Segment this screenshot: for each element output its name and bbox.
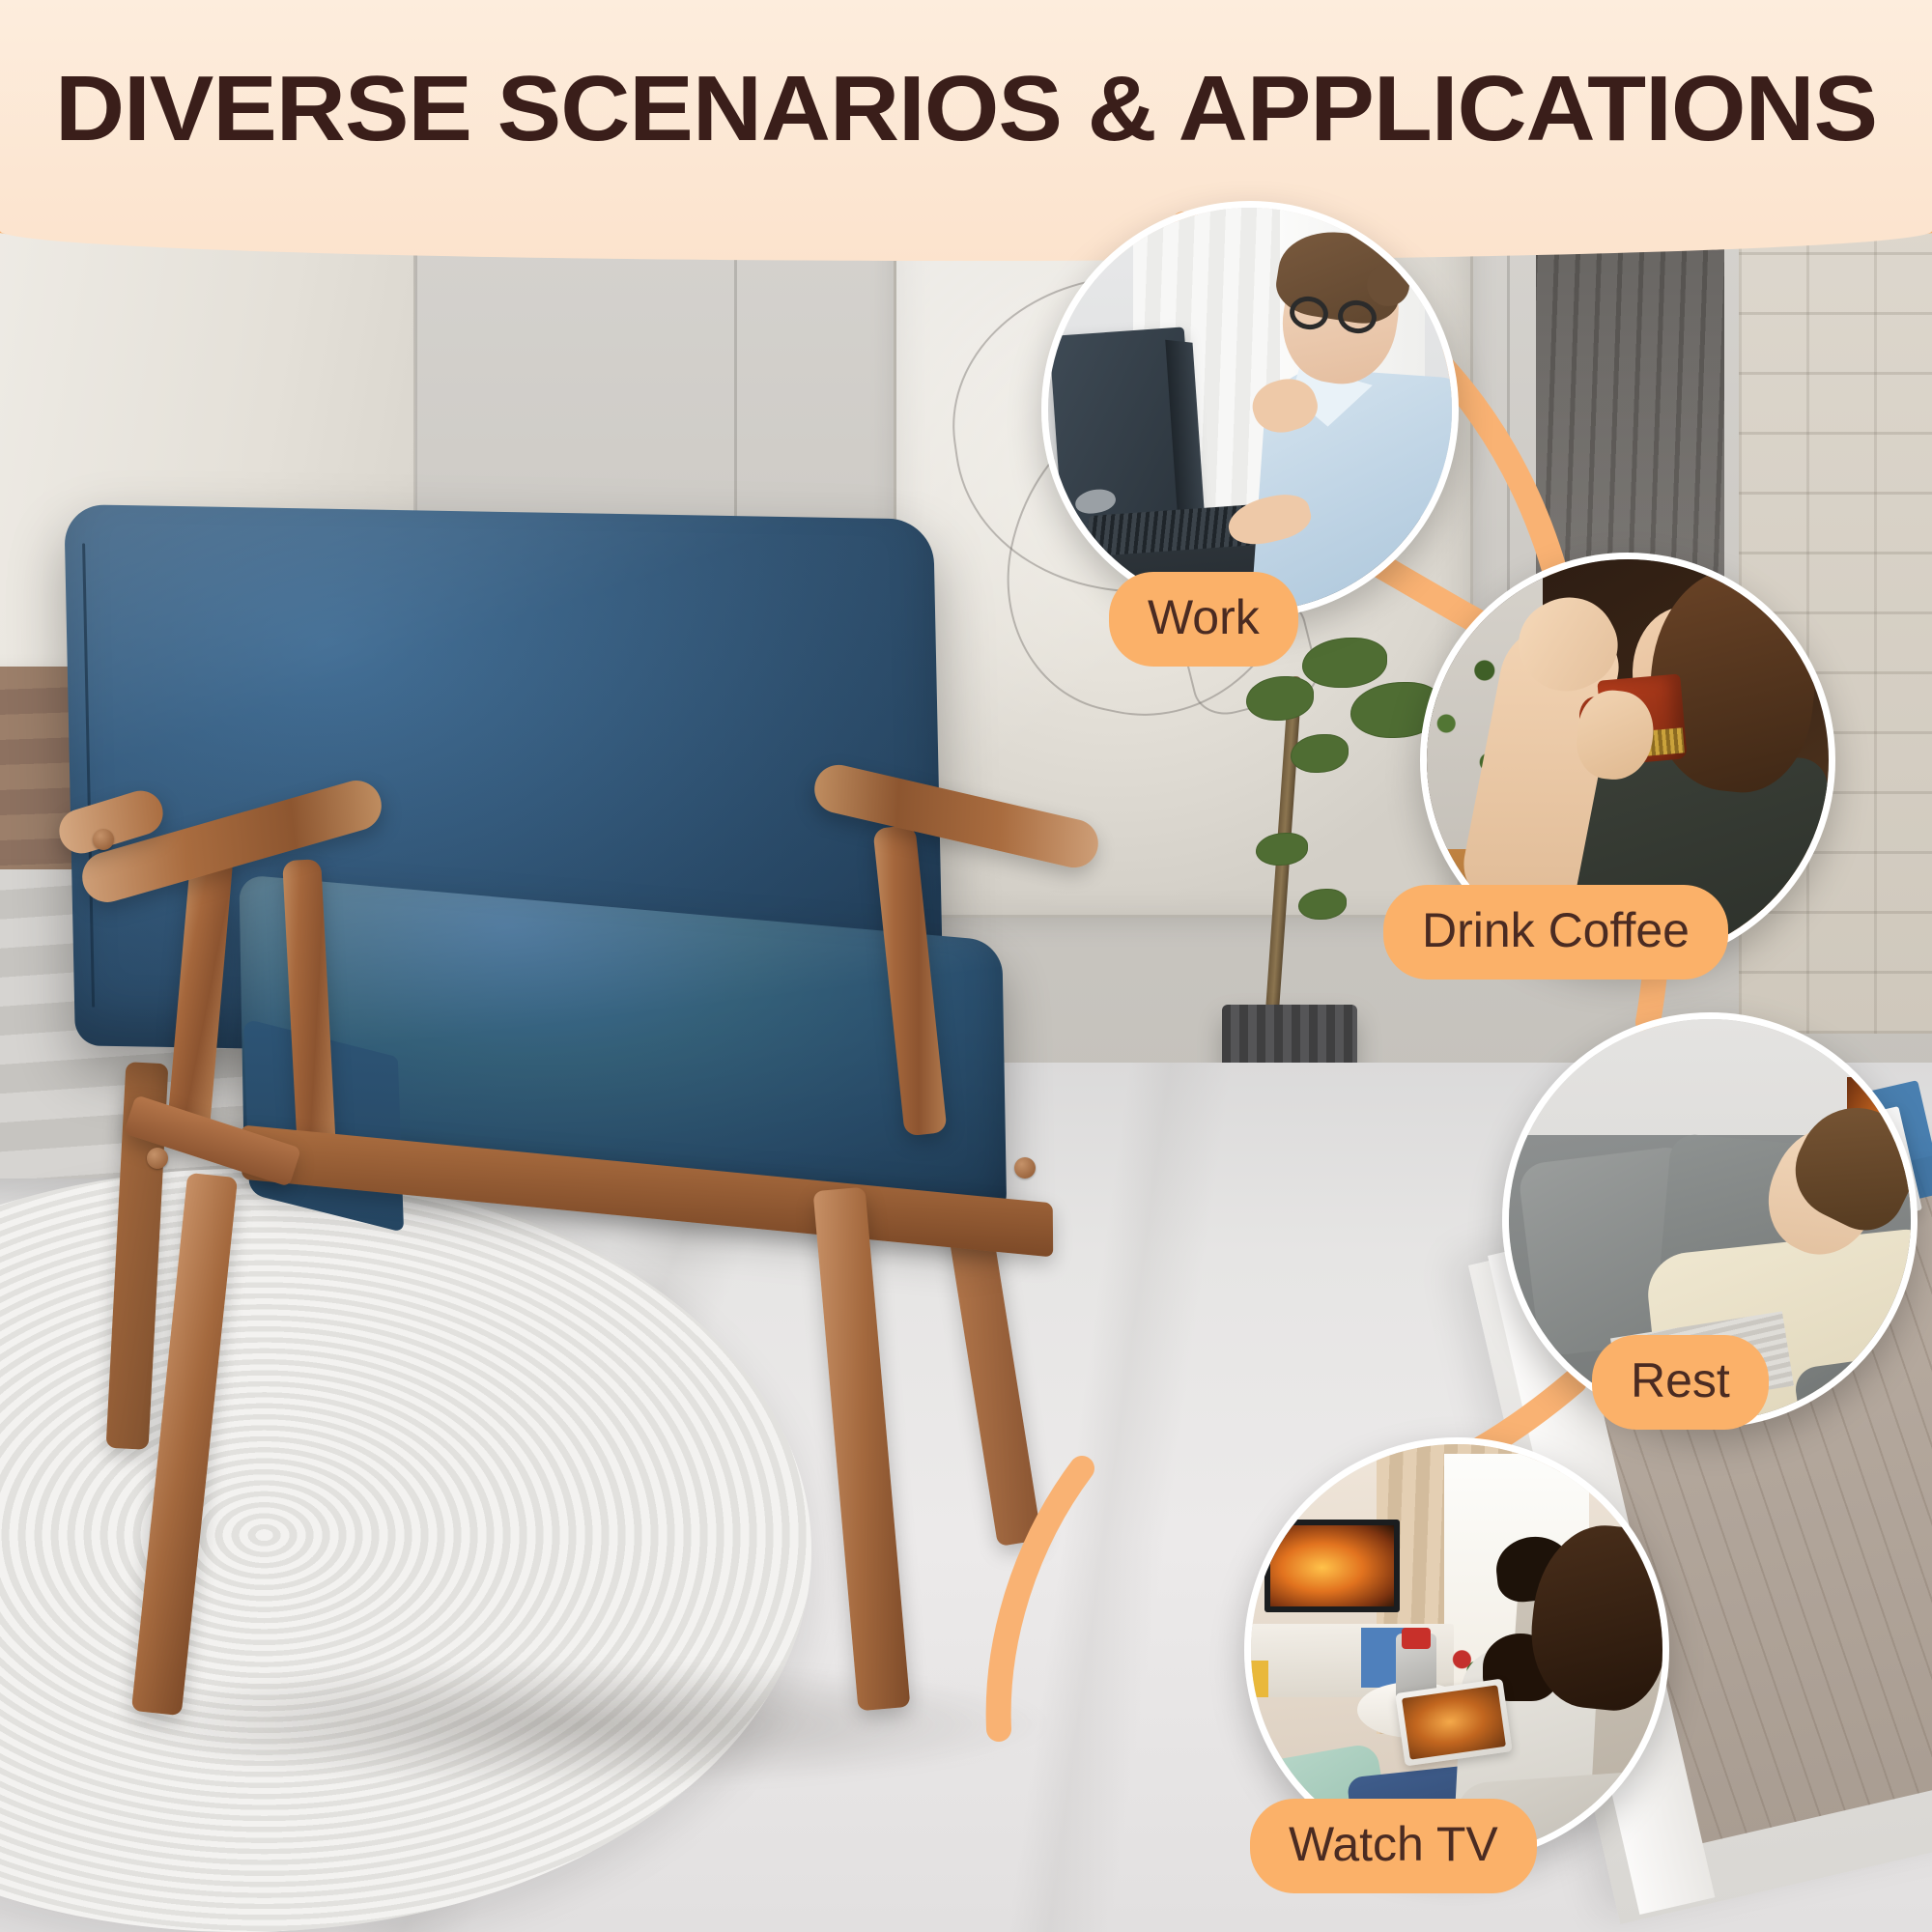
chair-leg-front-right xyxy=(813,1187,911,1712)
chair-wood-peg xyxy=(1014,1157,1036,1179)
scenario-label-rest[interactable]: Rest xyxy=(1592,1335,1769,1430)
chair-wood-peg xyxy=(147,1148,168,1169)
scenario-circle-work[interactable] xyxy=(1041,201,1459,618)
person-hair-bun xyxy=(1367,264,1409,306)
sideboard-cabinet-yellow xyxy=(1251,1661,1268,1697)
scenario-photo-watch-tv xyxy=(1251,1444,1662,1856)
product-infographic: DIVERSE SCENARIOS & APPLICATIONS xyxy=(0,0,1932,1932)
scenario-label-work[interactable]: Work xyxy=(1109,572,1298,667)
scenario-label-drink-coffee[interactable]: Drink Coffee xyxy=(1383,885,1728,980)
scenario-photo-work xyxy=(1048,208,1452,611)
header-banner: DIVERSE SCENARIOS & APPLICATIONS xyxy=(0,0,1932,261)
page-title: DIVERSE SCENARIOS & APPLICATIONS xyxy=(0,56,1932,162)
scenario-label-watch-tv[interactable]: Watch TV xyxy=(1250,1799,1537,1893)
chair-wood-peg xyxy=(93,829,114,850)
toy-robot-head xyxy=(1402,1628,1431,1649)
television-screen xyxy=(1270,1525,1394,1606)
